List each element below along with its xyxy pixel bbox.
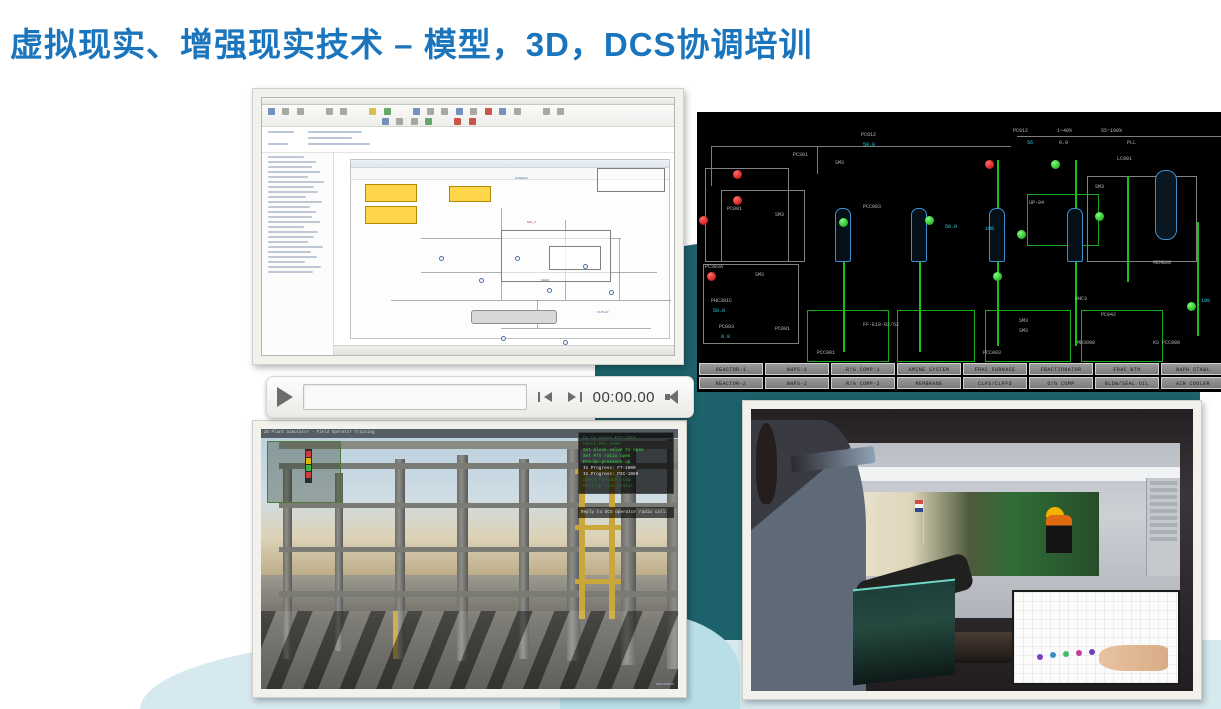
dcs-nav-button[interactable]: AMINE SYSTEM [897, 363, 961, 375]
toolbar-sep-3 [398, 108, 405, 115]
dcs-screenshot: PC301 SM3 PC001 SM3 PC303A SM3 PHC301C 5… [697, 112, 1221, 392]
dcs-nav-button[interactable]: FRACTIONATOR [1029, 363, 1093, 375]
dcs-nav-button[interactable]: AIR COOLER [1161, 377, 1221, 389]
valve-indicator-red [733, 196, 742, 205]
dcs-nav-button[interactable]: O/G COMP [1029, 377, 1093, 389]
plant3d-minimap[interactable] [267, 441, 341, 503]
page-title: 虚拟现实、增强现实技术 – 模型，3D，DCS协调培训 [10, 18, 1130, 66]
toolbar-sep-1 [311, 108, 318, 115]
toolbar-sep-4 [528, 108, 535, 115]
ar-hologram-panel [853, 578, 955, 685]
dcs-nav-button[interactable]: REACTOR-2 [699, 377, 763, 389]
toolbar-play-icon[interactable] [384, 108, 391, 115]
operator-head [756, 423, 778, 504]
toolbar2-icon-6[interactable] [469, 118, 476, 125]
valve-indicator-green [1051, 160, 1060, 169]
play-button[interactable] [277, 387, 293, 407]
toolbar-save-icon[interactable] [297, 108, 304, 115]
sim-title-bar [262, 98, 674, 105]
volume-icon[interactable] [665, 389, 683, 405]
toolbar-grid-icon[interactable] [456, 108, 463, 115]
valve-indicator-red [699, 216, 708, 225]
valve-indicator-green [993, 272, 1002, 281]
dcs-nav-button[interactable]: R/G COMP-2 [831, 377, 895, 389]
pfd-block-3 [597, 168, 665, 192]
annotation-box-3 [449, 186, 491, 202]
dcs-nav-button[interactable]: NHPS-2 [765, 377, 829, 389]
dcs-navigation-bar[interactable]: REACTOR-1 NHPS-1 R/G COMP-1 AMINE SYSTEM… [697, 362, 1221, 392]
plant3d-level-gauge [305, 449, 312, 483]
dcs-nav-button[interactable]: R/G COMP-1 [831, 363, 895, 375]
dcs-nav-button[interactable]: NAPH STABL [1161, 363, 1221, 375]
toolbar-tile-icon[interactable] [557, 108, 564, 115]
toolbar-sep-2 [355, 108, 362, 115]
plant3d-watermark: simulation [656, 681, 674, 686]
valve-indicator-green [925, 216, 934, 225]
dcs-nav-button[interactable]: MEMBRANE [897, 377, 961, 389]
toolbar-report-icon[interactable] [499, 108, 506, 115]
toolbar-pan-icon[interactable] [427, 108, 434, 115]
toolbar-select-icon[interactable] [441, 108, 448, 115]
toolbar2-icon-2[interactable] [396, 118, 403, 125]
sim-flowsheet-subwindow: STREAM MIX_V FEED OUTLET PRODUCT [350, 159, 670, 339]
sim-model-tree[interactable] [262, 153, 334, 355]
dcs-nav-button[interactable]: BLDW/SEAL OIL [1095, 377, 1159, 389]
projection-side-panel[interactable] [1146, 478, 1180, 576]
toolbar-help-icon[interactable] [514, 108, 521, 115]
valve-indicator-green [839, 218, 848, 227]
3d-plant-screenshot: 3D Plant Simulator - Field Operator Trai… [252, 420, 687, 698]
dcs-nav-row-2[interactable]: REACTOR-2 NHPS-2 R/G COMP-2 MEMBRANE CLP… [697, 376, 1221, 390]
ar-headset-screenshot [742, 400, 1202, 700]
toolbar2-sep [440, 118, 447, 125]
toolbar-open-icon[interactable] [282, 108, 289, 115]
dcs-nav-row-1[interactable]: REACTOR-1 NHPS-1 R/G COMP-1 AMINE SYSTEM… [697, 362, 1221, 376]
valve-indicator-green [1095, 212, 1104, 221]
step-forward-button[interactable] [565, 388, 583, 406]
toolbar-zoom-icon[interactable] [413, 108, 420, 115]
dcs-nav-button[interactable]: FRAC BTM [1095, 363, 1159, 375]
sim-screen: STREAM MIX_V FEED OUTLET PRODUCT [261, 97, 675, 356]
sim-document-header [262, 127, 674, 153]
slide-canvas: 虚拟现实、增强现实技术 – 模型，3D，DCS协调培训 [0, 0, 1221, 709]
worker-body [1046, 515, 1072, 553]
step-backward-button[interactable] [537, 388, 555, 406]
toolbar-redo-icon[interactable] [340, 108, 347, 115]
field-photo [851, 492, 1100, 576]
toolbar-run-icon[interactable] [369, 108, 376, 115]
toolbar2-icon-3[interactable] [411, 118, 418, 125]
toolbar-window-icon[interactable] [543, 108, 550, 115]
annotation-box-1 [365, 184, 417, 202]
playback-time: 00:00.00 [593, 389, 655, 406]
toolbar-layer-icon[interactable] [470, 108, 477, 115]
ar-screen [751, 409, 1193, 691]
hud-line: Pull up line status [583, 484, 669, 490]
plant3d-radio-prompt: Reply to DCS operator radio call [578, 507, 674, 518]
valve-indicator-red [733, 170, 742, 179]
simulation-window-screenshot: STREAM MIX_V FEED OUTLET PRODUCT [252, 88, 684, 365]
plant3d-task-hud: Go to valve FCV-1010 Check PIC-1080 Set … [578, 432, 674, 494]
sim-subwindow-title [351, 160, 669, 168]
pfd-block-2 [549, 246, 601, 270]
sim-toolbar[interactable] [262, 105, 674, 127]
dcs-nav-button[interactable]: FRAC FURNACE [963, 363, 1027, 375]
hand-tracking-inset [1012, 590, 1180, 686]
sim-status-bar [334, 345, 674, 355]
sim-flowsheet-canvas[interactable]: STREAM MIX_V FEED OUTLET PRODUCT [334, 153, 674, 355]
dcs-nav-button[interactable]: REACTOR-1 [699, 363, 763, 375]
toolbar-stop-icon[interactable] [485, 108, 492, 115]
toolbar-undo-icon[interactable] [326, 108, 333, 115]
valve-indicator-red [707, 272, 716, 281]
dcs-nav-button[interactable]: CLPS/CLPFD [963, 377, 1027, 389]
flag-icon [915, 500, 923, 512]
valve-indicator-green [1187, 302, 1196, 311]
valve-indicator-red [985, 160, 994, 169]
toolbar2-icon-4[interactable] [425, 118, 432, 125]
plant3d-screen: 3D Plant Simulator - Field Operator Trai… [261, 429, 678, 689]
toolbar2-icon-1[interactable] [382, 118, 389, 125]
media-player-toolbar[interactable]: 00:00.00 [266, 376, 694, 418]
pfd-vessel-drum [471, 310, 557, 324]
dcs-screen: PC301 SM3 PC001 SM3 PC303A SM3 PHC301C 5… [697, 112, 1221, 392]
toolbar-new-icon[interactable] [268, 108, 275, 115]
ground-shadow-pattern [261, 611, 678, 689]
projection-toolbar-strip [844, 467, 1180, 481]
dcs-nav-button[interactable]: NHPS-1 [765, 363, 829, 375]
toolbar2-icon-5[interactable] [454, 118, 461, 125]
annotation-box-2 [365, 206, 417, 224]
seek-progress-bar[interactable] [303, 384, 527, 410]
valve-indicator-green [1017, 230, 1026, 239]
tracked-hand [1099, 645, 1168, 671]
